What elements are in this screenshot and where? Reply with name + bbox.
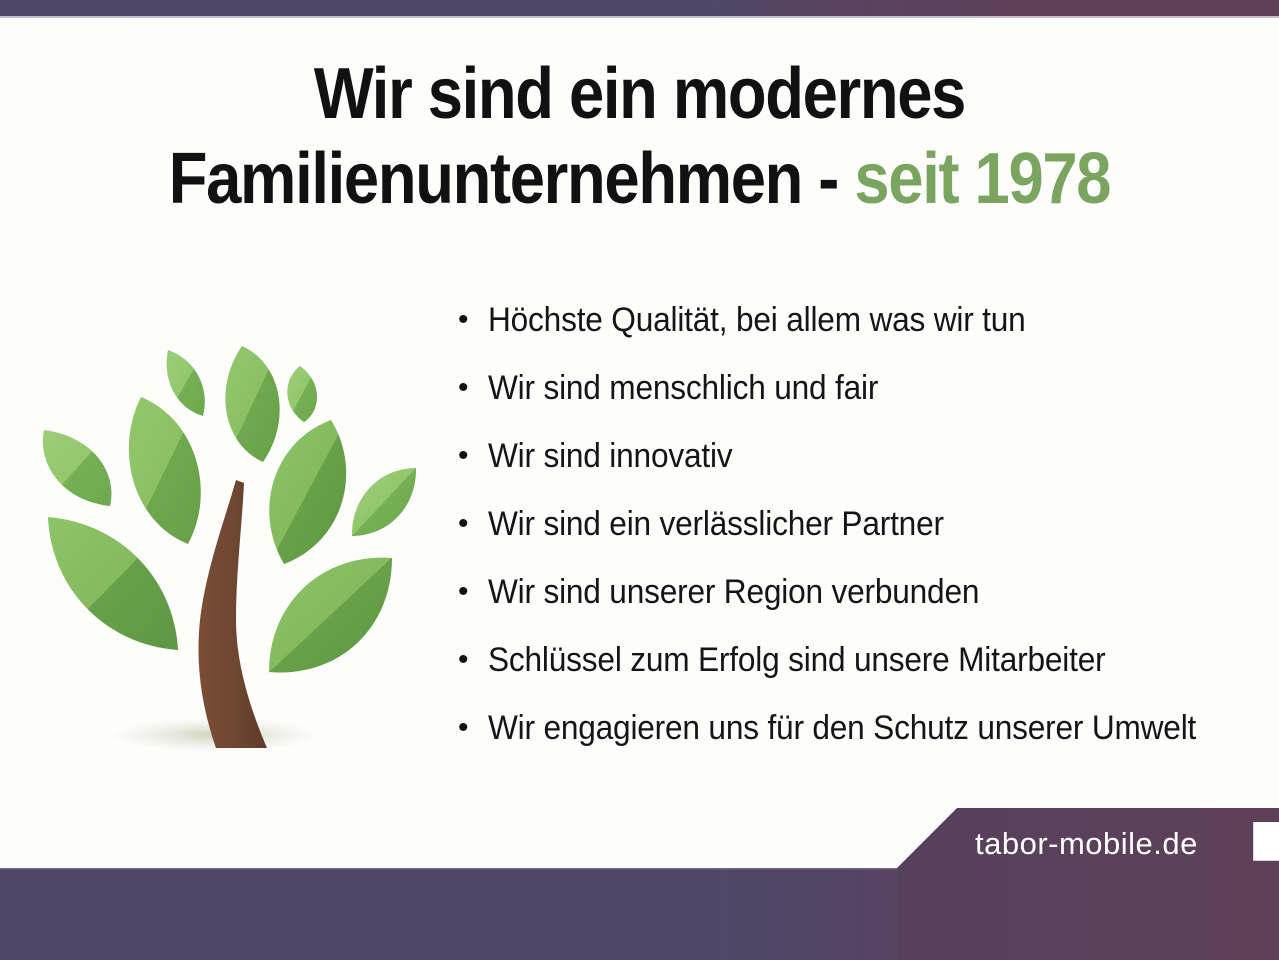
brand-logo[interactable]: tabor-mobile.de <box>975 822 1265 862</box>
top-accent-bar <box>0 0 1279 16</box>
leaf-lower-left <box>48 517 178 650</box>
bullet-point-icon: • <box>458 305 488 335</box>
list-item: • Wir sind ein verlässlicher Partner <box>458 504 1268 572</box>
leaf-lower-right <box>269 558 392 673</box>
list-item: • Wir sind unserer Region verbunden <box>458 572 1268 640</box>
list-item-label: Höchste Qualität, bei allem was wir tun <box>488 300 1026 341</box>
top-accent-hairline <box>0 16 1279 18</box>
tree-illustration <box>20 320 440 770</box>
list-item: • Wir sind innovativ <box>458 436 1268 504</box>
bullet-point-icon: • <box>458 577 488 607</box>
list-item-label: Schlüssel zum Erfolg sind unsere Mitarbe… <box>488 640 1105 681</box>
tree-trunk <box>198 480 267 748</box>
list-item-label: Wir engagieren uns für den Schutz unsere… <box>488 708 1196 749</box>
list-item: • Schlüssel zum Erfolg sind unsere Mitar… <box>458 640 1268 708</box>
headline-line-1: Wir sind ein modernes <box>314 54 965 134</box>
list-item-label: Wir sind menschlich und fair <box>488 368 878 409</box>
slide-footer: tabor-mobile.de <box>0 800 1279 960</box>
list-item-label: Wir sind unserer Region verbunden <box>488 572 979 613</box>
list-item-label: Wir sind innovativ <box>488 436 732 477</box>
headline-line-2-main: Familienunternehmen - <box>169 139 855 219</box>
list-item: • Wir sind menschlich und fair <box>458 368 1268 436</box>
headline-accent-year: seit 1978 <box>854 139 1110 219</box>
leaf-far-right <box>352 468 416 536</box>
leaf-upper-right <box>269 420 346 564</box>
bullet-point-icon: • <box>458 645 488 675</box>
bullet-point-icon: • <box>458 713 488 743</box>
leaf-top-center <box>225 346 279 462</box>
bullet-point-icon: • <box>458 441 488 471</box>
list-item: • Wir engagieren uns für den Schutz unse… <box>458 708 1268 776</box>
tabor-wordmark-icon <box>975 822 1279 960</box>
bullet-point-icon: • <box>458 373 488 403</box>
leaf-upper-left <box>129 397 201 544</box>
leaf-top-small-right <box>287 366 317 422</box>
presentation-slide: Wir sind ein modernes Familienunternehme… <box>0 0 1279 960</box>
slide-headline: Wir sind ein modernes Familienunternehme… <box>77 52 1203 222</box>
bullet-point-icon: • <box>458 509 488 539</box>
leaf-far-left <box>43 430 112 506</box>
leaf-top-small-left <box>167 350 205 416</box>
list-item: • Höchste Qualität, bei allem was wir tu… <box>458 300 1268 368</box>
value-bullet-list: • Höchste Qualität, bei allem was wir tu… <box>458 300 1268 776</box>
list-item-label: Wir sind ein verlässlicher Partner <box>488 504 944 545</box>
